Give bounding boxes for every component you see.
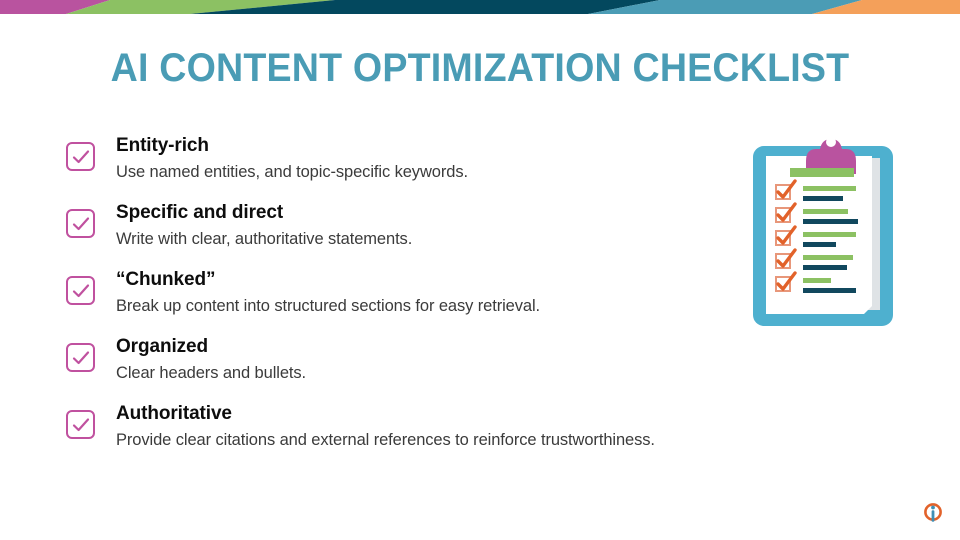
checkbox-organized[interactable]: [66, 343, 95, 372]
checkbox-chunked[interactable]: [66, 276, 95, 305]
logo-dot: [931, 506, 935, 510]
info-mark-logo: [921, 501, 945, 525]
list-item[interactable]: “Chunked” Break up content into structur…: [66, 267, 766, 318]
list-item-text: Specific and direct Write with clear, au…: [116, 200, 412, 251]
checkbox-authoritative[interactable]: [66, 410, 95, 439]
checkmark-icon: [71, 348, 91, 368]
list-item-desc: Use named entities, and topic-specific k…: [116, 160, 468, 184]
top-color-banner: [0, 0, 960, 14]
list-item[interactable]: Organized Clear headers and bullets.: [66, 334, 766, 385]
paper-title-bar: [790, 168, 854, 177]
checkbox-entity-rich[interactable]: [66, 142, 95, 171]
list-item[interactable]: Authoritative Provide clear citations an…: [66, 401, 766, 452]
clipboard-checklist-illustration: [744, 128, 902, 333]
list-item-title: Authoritative: [116, 401, 655, 426]
list-item-title: Organized: [116, 334, 306, 359]
checkmark-icon: [71, 281, 91, 301]
list-item-text: “Chunked” Break up content into structur…: [116, 267, 540, 318]
clipboard-clip-hole: [826, 137, 836, 147]
logo-stem: [932, 510, 935, 522]
page-title: AI CONTENT OPTIMIZATION CHECKLIST: [29, 46, 931, 91]
list-item-desc: Provide clear citations and external ref…: [116, 428, 655, 452]
list-item-text: Entity-rich Use named entities, and topi…: [116, 133, 468, 184]
checkmark-icon: [71, 214, 91, 234]
checklist: Entity-rich Use named entities, and topi…: [66, 133, 766, 452]
checkmark-icon: [71, 415, 91, 435]
list-item-desc: Write with clear, authoritative statemen…: [116, 227, 412, 251]
list-item-text: Authoritative Provide clear citations an…: [116, 401, 655, 452]
list-item-desc: Break up content into structured section…: [116, 294, 540, 318]
list-item-desc: Clear headers and bullets.: [116, 361, 306, 385]
list-item-title: “Chunked”: [116, 267, 540, 292]
list-item[interactable]: Specific and direct Write with clear, au…: [66, 200, 766, 251]
list-item-title: Entity-rich: [116, 133, 468, 158]
checkmark-icon: [71, 147, 91, 167]
list-item-text: Organized Clear headers and bullets.: [116, 334, 306, 385]
list-item-title: Specific and direct: [116, 200, 412, 225]
list-item[interactable]: Entity-rich Use named entities, and topi…: [66, 133, 766, 184]
checkbox-specific-and-direct[interactable]: [66, 209, 95, 238]
